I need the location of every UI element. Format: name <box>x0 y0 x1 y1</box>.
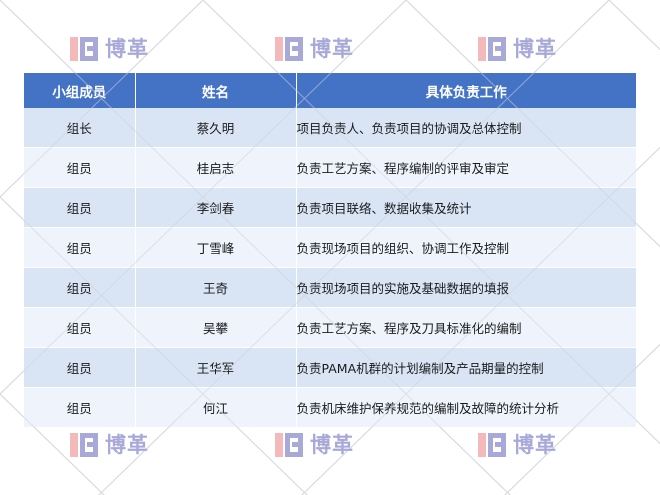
bogo-logo-icon <box>70 432 100 458</box>
cell-duty: 负责现场项目的实施及基础数据的填报 <box>296 268 636 308</box>
cell-role: 组员 <box>24 308 135 348</box>
table-row: 组员 王华军 负责PAMA机群的计划编制及产品期量的控制 <box>24 348 636 388</box>
cell-name: 王奇 <box>135 268 296 308</box>
team-member-table-container: 小组成员 姓名 具体负责工作 组长 蔡久明 项目负责人、负责项目的协调及总体控制… <box>24 73 636 427</box>
watermark-logo-text: 博革 <box>310 434 354 456</box>
watermark-logo-text: 博革 <box>105 434 149 456</box>
bogo-logo-icon <box>478 36 508 62</box>
cell-role: 组员 <box>24 348 135 388</box>
cell-name: 蔡久明 <box>135 108 296 148</box>
cell-role: 组员 <box>24 188 135 228</box>
watermark-logo: 博革 <box>70 36 149 62</box>
cell-role: 组员 <box>24 388 135 428</box>
bogo-logo-icon <box>70 36 100 62</box>
team-member-table: 小组成员 姓名 具体负责工作 组长 蔡久明 项目负责人、负责项目的协调及总体控制… <box>24 73 636 427</box>
watermark-logo-text: 博革 <box>513 38 557 60</box>
column-header-role: 小组成员 <box>24 73 135 108</box>
bogo-logo-icon <box>275 36 305 62</box>
table-row: 组员 李剑春 负责项目联络、数据收集及统计 <box>24 188 636 228</box>
cell-duty: 项目负责人、负责项目的协调及总体控制 <box>296 108 636 148</box>
watermark-logo: 博革 <box>275 36 354 62</box>
cell-duty: 负责工艺方案、程序编制的评审及审定 <box>296 148 636 188</box>
cell-role: 组长 <box>24 108 135 148</box>
watermark-logo: 博革 <box>478 432 557 458</box>
table-row: 组员 丁雪峰 负责现场项目的组织、协调工作及控制 <box>24 228 636 268</box>
cell-duty: 负责PAMA机群的计划编制及产品期量的控制 <box>296 348 636 388</box>
table-row: 组员 王奇 负责现场项目的实施及基础数据的填报 <box>24 268 636 308</box>
cell-role: 组员 <box>24 148 135 188</box>
column-header-duty: 具体负责工作 <box>296 73 636 108</box>
table-row: 组员 吴攀 负责工艺方案、程序及刀具标准化的编制 <box>24 308 636 348</box>
watermark-logo-text: 博革 <box>310 38 354 60</box>
cell-name: 桂启志 <box>135 148 296 188</box>
cell-name: 李剑春 <box>135 188 296 228</box>
column-header-name: 姓名 <box>135 73 296 108</box>
cell-name: 吴攀 <box>135 308 296 348</box>
table-row: 组长 蔡久明 项目负责人、负责项目的协调及总体控制 <box>24 108 636 148</box>
cell-duty: 负责工艺方案、程序及刀具标准化的编制 <box>296 308 636 348</box>
table-row: 组员 桂启志 负责工艺方案、程序编制的评审及审定 <box>24 148 636 188</box>
cell-duty: 负责现场项目的组织、协调工作及控制 <box>296 228 636 268</box>
watermark-logo-text: 博革 <box>105 38 149 60</box>
cell-duty: 负责机床维护保养规范的编制及故障的统计分析 <box>296 388 636 428</box>
watermark-logo: 博革 <box>70 432 149 458</box>
cell-name: 何江 <box>135 388 296 428</box>
cell-role: 组员 <box>24 228 135 268</box>
bogo-logo-icon <box>275 432 305 458</box>
cell-duty: 负责项目联络、数据收集及统计 <box>296 188 636 228</box>
watermark-logo: 博革 <box>478 36 557 62</box>
watermark-logo-text: 博革 <box>513 434 557 456</box>
table-row: 组员 何江 负责机床维护保养规范的编制及故障的统计分析 <box>24 388 636 428</box>
cell-name: 王华军 <box>135 348 296 388</box>
watermark-logo: 博革 <box>275 432 354 458</box>
bogo-logo-icon <box>478 432 508 458</box>
cell-name: 丁雪峰 <box>135 228 296 268</box>
table-header-row: 小组成员 姓名 具体负责工作 <box>24 73 636 108</box>
cell-role: 组员 <box>24 268 135 308</box>
